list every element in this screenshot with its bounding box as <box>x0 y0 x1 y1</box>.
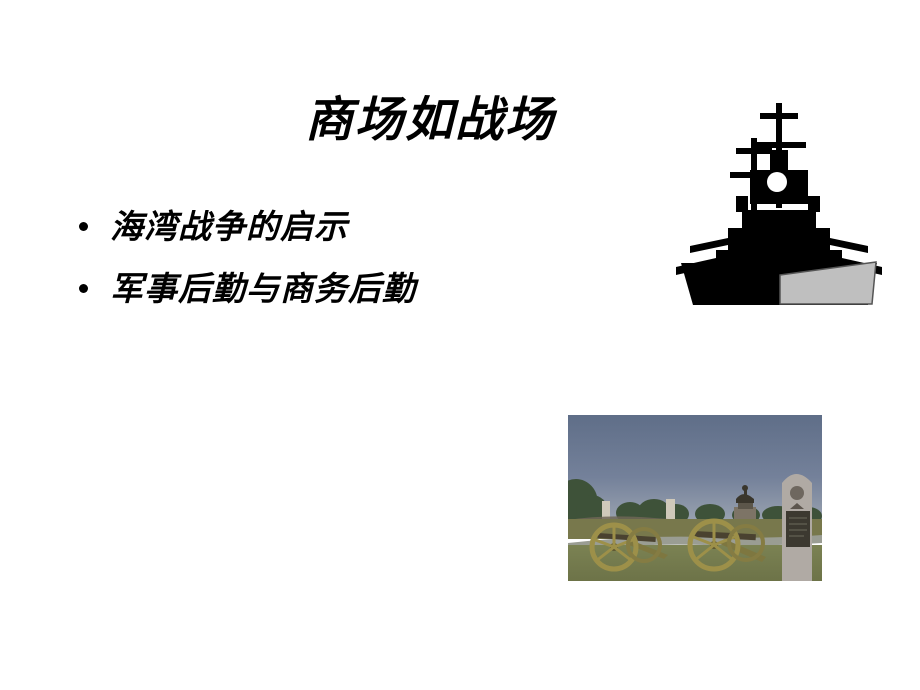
bullet-dot-icon <box>79 284 88 293</box>
bullet-text: 军事后勤与商务后勤 <box>110 267 416 311</box>
list-item: 军事后勤与商务后勤 <box>68 267 538 311</box>
stone-monument-icon <box>782 474 812 581</box>
list-item: 海湾战争的启示 <box>68 205 538 249</box>
bullet-text: 海湾战争的启示 <box>110 205 348 249</box>
bullet-list: 海湾战争的启示 军事后勤与商务后勤 <box>68 205 538 329</box>
slide-title: 商场如战场 <box>150 92 710 148</box>
battlefield-cannons-photo <box>568 415 822 581</box>
battleship-silhouette-image <box>672 92 884 312</box>
bullet-dot-icon <box>79 222 88 231</box>
porthole-icon <box>767 172 787 192</box>
presentation-slide: 商场如战场 海湾战争的启示 军事后勤与商务后勤 <box>0 0 920 690</box>
